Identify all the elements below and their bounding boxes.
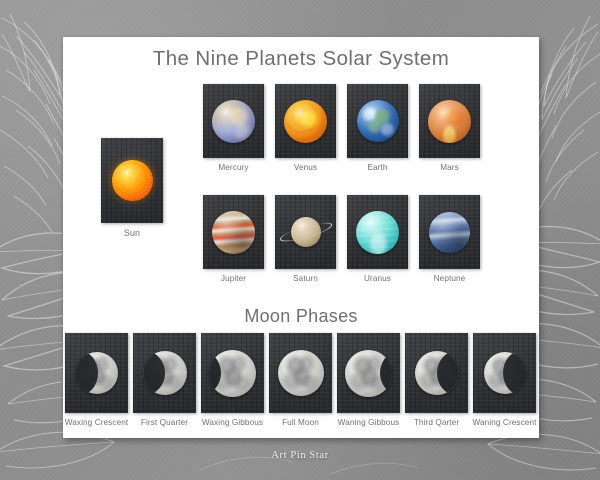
full-moon-icon	[278, 350, 324, 396]
jupiter-card-plate	[203, 195, 264, 269]
moon-card-waning-crescent[interactable]: Waning Crescent	[473, 333, 536, 413]
jupiter-icon	[212, 211, 255, 254]
earth-card-plate	[347, 84, 408, 158]
waxing-crescent-card-plate	[65, 333, 128, 413]
planet-card-mars[interactable]: Mars	[419, 84, 480, 158]
moon-card-third-quarter[interactable]: Third Qarter	[405, 333, 468, 413]
waning-gibbous-icon	[345, 350, 392, 397]
waxing-gibbous-card-plate	[201, 333, 264, 413]
planet-label-sun: Sun	[87, 228, 177, 238]
saturn-card-plate	[275, 195, 336, 269]
mars-card-plate	[419, 84, 480, 158]
moon-card-first-quarter[interactable]: First Quarter	[133, 333, 196, 413]
venus-card-plate	[275, 84, 336, 158]
planet-card-saturn[interactable]: Saturn	[275, 195, 336, 269]
planet-card-jupiter[interactable]: Jupiter	[203, 195, 264, 269]
sun-card-plate	[101, 138, 163, 223]
planet-card-neptune[interactable]: Neptune	[419, 195, 480, 269]
first-quarter-icon	[143, 351, 187, 395]
moon-card-waning-gibbous[interactable]: Waning Gibbous	[337, 333, 400, 413]
planet-card-uranus[interactable]: Uranus	[347, 195, 408, 269]
mars-icon	[428, 100, 471, 143]
planet-label-mars: Mars	[405, 163, 494, 172]
planet-card-mercury[interactable]: Mercury	[203, 84, 264, 158]
section-title-moon-phases: Moon Phases	[63, 306, 539, 327]
full-moon-card-plate	[269, 333, 332, 413]
waning-crescent-card-plate	[473, 333, 536, 413]
uranus-icon	[356, 211, 399, 254]
planet-card-earth[interactable]: Earth	[347, 84, 408, 158]
saturn-icon	[280, 210, 332, 254]
poster-print: The Nine Planets Solar System Sun Mercur…	[63, 37, 539, 438]
poster-mockup-image: The Nine Planets Solar System Sun Mercur…	[0, 0, 600, 480]
mercury-icon	[212, 100, 255, 143]
neptune-card-plate	[419, 195, 480, 269]
page-title: The Nine Planets Solar System	[63, 47, 539, 71]
mercury-card-plate	[203, 84, 264, 158]
neptune-icon	[429, 212, 470, 253]
moon-card-full-moon[interactable]: Full Moon	[269, 333, 332, 413]
waning-gibbous-card-plate	[337, 333, 400, 413]
waxing-gibbous-icon	[209, 350, 256, 397]
planet-card-sun[interactable]: Sun	[101, 138, 163, 223]
planet-card-venus[interactable]: Venus	[275, 84, 336, 158]
waxing-crescent-icon	[76, 352, 118, 394]
uranus-card-plate	[347, 195, 408, 269]
planet-label-neptune: Neptune	[405, 274, 494, 283]
venus-icon	[284, 100, 327, 143]
moon-label-waning-crescent: Waning Crescent	[459, 418, 550, 427]
third-quarter-card-plate	[405, 333, 468, 413]
moon-card-waxing-crescent[interactable]: Waxing Crescent	[65, 333, 128, 413]
moon-card-waxing-gibbous[interactable]: Waxing Gibbous	[201, 333, 264, 413]
first-quarter-card-plate	[133, 333, 196, 413]
watermark-text: Art Pin Star	[0, 450, 600, 461]
third-quarter-icon	[415, 351, 459, 395]
sun-icon	[112, 160, 153, 201]
waning-crescent-icon	[484, 352, 526, 394]
earth-icon	[357, 100, 399, 142]
